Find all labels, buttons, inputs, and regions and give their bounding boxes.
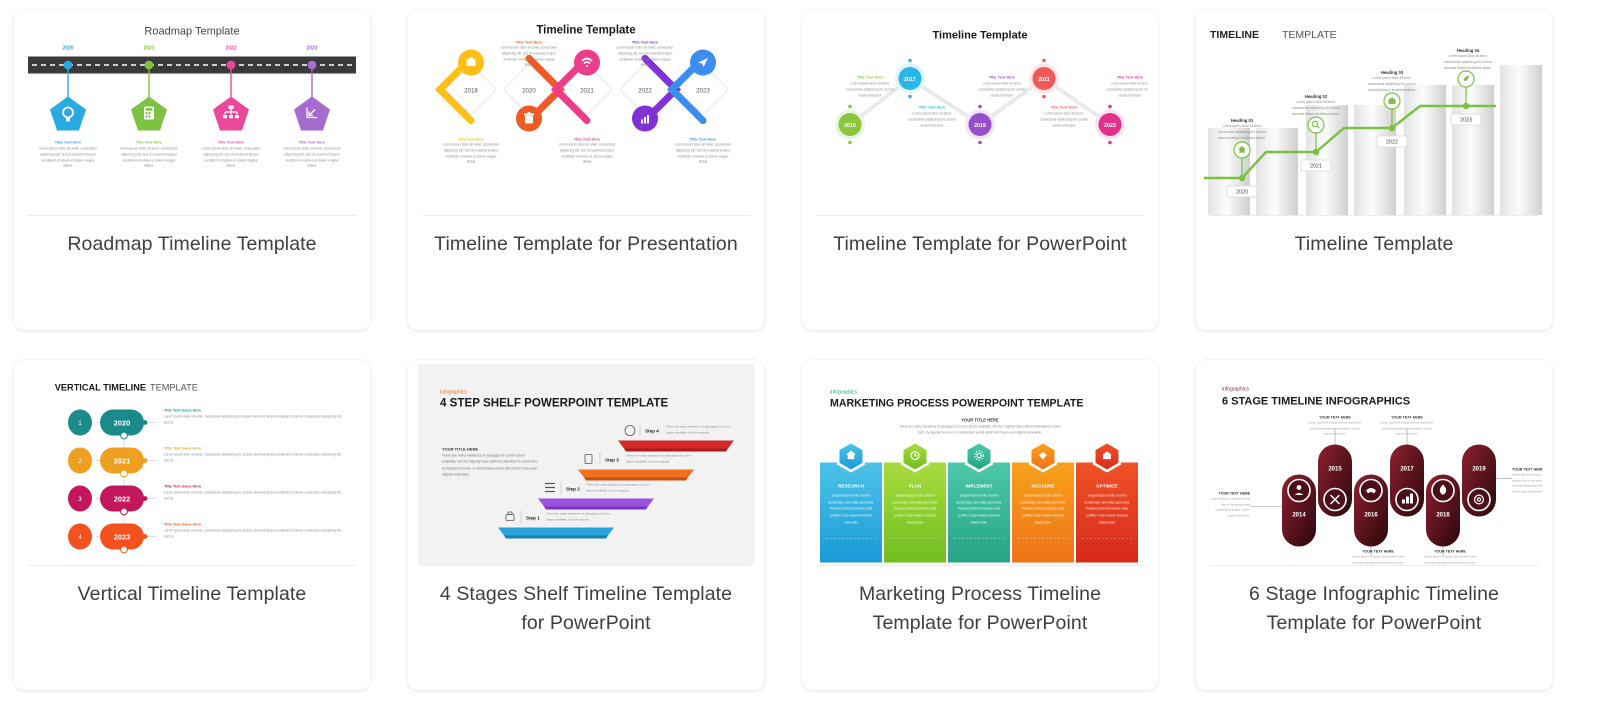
callout-2018: YOUR TEXT HERE Lorem Ipsum is simply dum… xyxy=(1421,547,1479,566)
callout-2015: YOUR TEXT HERE Lorem Ipsum is simply dum… xyxy=(1306,416,1364,445)
card-title-6-stage-infographic-timeline-template-for-powerpoint[interactable]: 6 Stage Infographic Timeline Template fo… xyxy=(1196,566,1552,638)
zigzag-title-2016: Title Text Here xyxy=(857,75,884,80)
roadmap-year-2023: 2023 xyxy=(306,46,317,52)
zigzag-illustration: Timeline Template 2016 2019 xyxy=(812,14,1148,215)
zigzag-node-2017: 2017 xyxy=(895,59,925,99)
roadmap-year-2022: 2022 xyxy=(225,46,236,52)
zigzag-year-2019: 2019 xyxy=(974,123,986,129)
stairs-body-03: Lorem ipsum dolor sit amet, consectetur … xyxy=(1364,76,1420,94)
thumbnail-zigzag[interactable]: Timeline Template 2016 2019 xyxy=(802,10,1158,215)
column-research: RESEARCH Suspendisse a felis a lorem sce… xyxy=(820,441,882,563)
chevron-node-2022 xyxy=(632,106,658,132)
shelf-side-body: There are many variations of passages of… xyxy=(442,453,540,479)
zigzag-node-2021: 2021 xyxy=(1029,59,1059,99)
callout-title-2017: YOUR TEXT HERE xyxy=(1391,416,1423,420)
vertical-row-4: 4 2023 Title Text Goes Here Lorem ipsum … xyxy=(68,522,344,553)
vertical-title-3: Title Text Goes Here xyxy=(164,484,202,489)
thumb-heading: Timeline Template xyxy=(536,25,635,37)
column-plan: PLAN Suspendisse a felis a lorem sceleri… xyxy=(884,441,946,563)
chevron-illustration: Timeline Template xyxy=(418,14,754,215)
thumb-heading: MARKETING PROCESS POWERPOINT TEMPLATE xyxy=(830,398,1083,410)
column-label-research: RESEARCH xyxy=(838,484,864,489)
roadmap-year-2021: 2021 xyxy=(143,46,154,52)
callout-body-2017: Lorem Ipsum is simply dummy text of the … xyxy=(1378,421,1436,438)
vertical-body-2: Lorem ipsum dolor sit amet, consectetur … xyxy=(164,452,344,464)
card-title-timeline-template[interactable]: Timeline Template xyxy=(1196,216,1552,259)
capsule-year-2016: 2016 xyxy=(1364,513,1378,519)
stairs-heading-02: Heading 02 xyxy=(1305,94,1328,99)
capsule-2018: 2018 xyxy=(1426,475,1460,547)
vertical-title-1: Title Text Goes Here xyxy=(164,408,202,413)
chevron-title-2021: Title Text Here xyxy=(574,137,601,142)
shelf-label-4: Step 4 xyxy=(645,429,659,434)
roadmap-year-2020: 2020 xyxy=(62,46,73,52)
thumb-heading-light: TEMPLATE xyxy=(150,383,198,393)
vertical-body-4: Lorem ipsum dolor sit amet, consectetur … xyxy=(164,528,344,540)
callout-title-2015: YOUR TEXT HERE xyxy=(1319,416,1351,420)
roadmap-dot xyxy=(308,61,317,70)
callout-body-2016: Lorem Ipsum is simply dummy text of the … xyxy=(1349,555,1407,566)
roadmap-item-body: lorem ipsum dolor sit amet, consectetur … xyxy=(119,147,179,170)
thumb-heading: 4 STEP SHELF POWERPOINT TEMPLATE xyxy=(440,397,669,410)
vertical-row-3: 3 2022 Title Text Goes Here Lorem ipsum … xyxy=(68,484,344,515)
stairs-heading-04: Heading 04 xyxy=(1457,48,1480,53)
zigzag-year-2023: 2023 xyxy=(1104,123,1116,129)
thumbnail-shelf[interactable]: infographics 4 STEP SHELF POWERPOINT TEM… xyxy=(408,360,764,565)
zigzag-body-2021: Lorem ipsum dolor sit amet, consectetur … xyxy=(1036,111,1092,129)
roadmap-illustration: Roadmap Template 2020 Titl xyxy=(24,14,360,215)
roadmap-dot xyxy=(227,61,236,70)
chevron-body-2018: Lorem ipsum dolor sit amet, consectetur … xyxy=(442,143,500,166)
callout-title-2016: YOUR TEXT HERE xyxy=(1362,550,1394,554)
callout-2014: YOUR TEXT HERE Lorem Ipsum is simply dum… xyxy=(1208,492,1282,519)
card-title-timeline-template-for-presentation[interactable]: Timeline Template for Presentation xyxy=(408,216,764,259)
thumb-heading-light: TEMPLATE xyxy=(1282,29,1337,41)
thumb-eyebrow: infographics xyxy=(1222,387,1249,393)
chevron-body-2021: Lorem ipsum dolor sit amet, consectetur … xyxy=(558,143,616,166)
thumbnail-chevron[interactable]: Timeline Template xyxy=(408,10,764,215)
roadmap-item-body: Lorem ipsum dolor sit amet, consectetur … xyxy=(38,147,98,170)
capsule-2019: 2019 xyxy=(1462,445,1496,517)
chevron-title-2023: Title Text Here xyxy=(690,137,717,142)
shelf-body-3: There are many variations of passages of… xyxy=(626,454,692,465)
shelf-label-2: Step 2 xyxy=(566,487,580,492)
capsule-2015: 2015 xyxy=(1318,445,1352,517)
zigzag-year-2017: 2017 xyxy=(904,77,916,83)
zigzag-title-2021: Title Text Here xyxy=(1051,105,1078,110)
capsule-2016: 2016 xyxy=(1354,475,1388,547)
stairs-body-02: Lorem ipsum dolor sit amet, consectetur … xyxy=(1288,100,1344,118)
callout-2016: YOUR TEXT HERE Lorem Ipsum is simply dum… xyxy=(1349,547,1407,566)
zigzag-title-2017: Title Text Here xyxy=(919,105,946,110)
template-card-vertical-timeline-template[interactable]: VERTICAL TIMELINE TEMPLATE 1 2020 Title … xyxy=(14,360,370,690)
zigzag-title-2019: Title Text Here xyxy=(989,75,1016,80)
chevron-year-2020: 2020 xyxy=(522,88,536,95)
capsule-year-2017: 2017 xyxy=(1400,467,1414,473)
template-card-6-stage-infographic-timeline-template-for-powerpoint[interactable]: infographics 6 STAGE TIMELINE INFOGRAPHI… xyxy=(1196,360,1552,690)
template-card-timeline-template[interactable]: TIMELINE TEMPLATE 2020 Heading 01 Lorem … xyxy=(1196,10,1552,330)
template-card-timeline-template-for-powerpoint[interactable]: Timeline Template 2016 2019 xyxy=(802,10,1158,330)
trash-icon xyxy=(524,112,534,123)
roadmap-item-title: Title Text Here xyxy=(136,140,163,145)
card-title-vertical-timeline-template[interactable]: Vertical Timeline Template xyxy=(14,566,370,609)
capsule-2014: 2014 xyxy=(1282,475,1316,547)
chevron-year-2021: 2021 xyxy=(580,88,594,95)
callout-title-2019: YOUR TEXT HERE xyxy=(1512,468,1542,472)
stairs-body-01: Lorem ipsum dolor sit amet, consectetur … xyxy=(1214,124,1270,142)
roadmap-item-title: Title Text Here xyxy=(299,140,326,145)
columns-sub-title: YOUR TITLE HERE xyxy=(961,418,999,423)
capsule-year-2019: 2019 xyxy=(1472,467,1486,473)
vertical-title-2: Title Text Goes Here xyxy=(164,446,202,451)
card-title-timeline-template-for-powerpoint[interactable]: Timeline Template for PowerPoint xyxy=(802,216,1158,259)
roadmap-item-title: Title Text Here xyxy=(218,140,245,145)
column-optimize: OPTIMIZE Suspendisse a felis a lorem sce… xyxy=(1076,441,1138,563)
card-title-4-stages-shelf-timeline-template-for-powerpoint[interactable]: 4 Stages Shelf Timeline Template for Pow… xyxy=(408,566,764,638)
template-card-roadmap-timeline-template[interactable]: Roadmap Template 2020 Titl xyxy=(14,10,370,330)
shelf-illustration: infographics 4 STEP SHELF POWERPOINT TEM… xyxy=(418,364,754,565)
zigzag-year-2021: 2021 xyxy=(1038,77,1050,83)
thumb-heading: Roadmap Template xyxy=(144,26,239,38)
shelf-side-title: YOUR TITLE HERE xyxy=(442,447,478,452)
thumb-heading-strong: TIMELINE xyxy=(1210,29,1259,41)
template-card-4-stages-shelf-timeline-template-for-powerpoint[interactable]: infographics 4 STEP SHELF POWERPOINT TEM… xyxy=(408,360,764,690)
calculator-icon xyxy=(144,107,154,120)
thumb-heading: Timeline Template xyxy=(933,30,1028,42)
roadmap-item-title: Title Text Here xyxy=(55,140,82,145)
chevron-node-2018 xyxy=(458,50,484,76)
shelf-label-1: Step 1 xyxy=(526,516,540,521)
template-card-grid: Roadmap Template 2020 Titl xyxy=(0,0,1600,690)
column-body-plan: Suspendisse a felis a lorem scelerisque … xyxy=(889,493,941,527)
chevron-body-2020: Lorem ipsum dolor sit amet, consectetur … xyxy=(500,46,558,69)
card-title-roadmap-timeline-template[interactable]: Roadmap Timeline Template xyxy=(14,216,370,259)
vertical-illustration: VERTICAL TIMELINE TEMPLATE 1 2020 Title … xyxy=(24,364,360,565)
columns-sub-body: There are many variations of passages of… xyxy=(896,424,1064,436)
roadmap-item-body: lorem ipsum dolor sit amet, consectetur … xyxy=(282,147,342,170)
thumb-heading: 6 STAGE TIMELINE INFOGRAPHICS xyxy=(1222,396,1410,408)
template-card-marketing-process-timeline-template-for-powerpoint[interactable]: infographics MARKETING PROCESS POWERPOIN… xyxy=(802,360,1158,690)
callout-title-2014: YOUR TEXT HERE xyxy=(1218,492,1250,496)
column-measure: MEASURE Suspendisse a felis a lorem scel… xyxy=(1012,441,1074,563)
zigzag-body-2017: Lorem ipsum dolor sit amet, consectetur … xyxy=(904,111,960,129)
callout-body-2018: Lorem Ipsum is simply dummy text of the … xyxy=(1421,555,1479,566)
thumbnail-roadmap[interactable]: Roadmap Template 2020 Titl xyxy=(14,10,370,215)
roadmap-dot xyxy=(145,61,154,70)
zigzag-body-2016: Lorem ipsum dolor sit amet, consectetur … xyxy=(842,81,898,99)
zigzag-body-2023: Lorem ipsum dolor sit amet, consectetur … xyxy=(1104,81,1148,99)
stairs-year-2020: 2020 xyxy=(1236,190,1248,196)
chevron-year-2018: 2018 xyxy=(464,88,478,95)
stairs-body-04: Lorem ipsum dolor sit amet, consectetur … xyxy=(1440,54,1496,72)
shelf-label-3: Step 3 xyxy=(605,458,619,463)
vertical-year-2021: 2021 xyxy=(114,457,130,466)
shelf-body-4: There are many variations of passages of… xyxy=(666,425,732,436)
column-label-measure: MEASURE xyxy=(1032,484,1055,489)
card-title-marketing-process-timeline-template-for-powerpoint[interactable]: Marketing Process Timeline Template for … xyxy=(802,566,1158,638)
thumbnail-capsules[interactable]: infographics 6 STAGE TIMELINE INFOGRAPHI… xyxy=(1196,360,1552,565)
callout-body-2014: Lorem Ipsum is simply dummy text of the … xyxy=(1208,497,1250,519)
shelf-body-1: There are many variations of passages of… xyxy=(546,512,612,523)
column-body-measure: Suspendisse a felis a lorem scelerisque … xyxy=(1017,493,1069,527)
thumbnail-stairs[interactable]: TIMELINE TEMPLATE 2020 Heading 01 Lorem … xyxy=(1196,10,1552,215)
chevron-year-2022: 2022 xyxy=(638,88,652,95)
vertical-year-2020: 2020 xyxy=(114,419,130,428)
template-card-timeline-template-for-presentation[interactable]: Timeline Template xyxy=(408,10,764,330)
chevron-year-2023: 2023 xyxy=(696,88,710,95)
callout-body-2015: Lorem Ipsum is simply dummy text of the … xyxy=(1306,421,1364,438)
shelf-body-2: There are many variations of passages of… xyxy=(586,483,652,494)
thumb-heading-strong: VERTICAL TIMELINE xyxy=(55,383,146,393)
stairs-year-2023: 2023 xyxy=(1460,118,1472,124)
thumbnail-vertical[interactable]: VERTICAL TIMELINE TEMPLATE 1 2020 Title … xyxy=(14,360,370,565)
vertical-year-2023: 2023 xyxy=(114,533,130,542)
chevron-node-2023 xyxy=(690,50,716,76)
thumbnail-columns[interactable]: infographics MARKETING PROCESS POWERPOIN… xyxy=(802,360,1158,565)
roadmap-item-body: Lorem ipsum dolor sit amet, consectetur … xyxy=(201,147,261,170)
column-label-optimize: OPTIMIZE xyxy=(1096,484,1118,489)
chevron-body-2023: Lorem ipsum dolor sit amet, consectetur … xyxy=(674,143,732,166)
capsule-year-2018: 2018 xyxy=(1436,513,1450,519)
callout-body-2019: Lorem Ipsum is simply dummy text of the … xyxy=(1512,473,1542,495)
column-label-implement: IMPLEMENT xyxy=(965,484,992,489)
stairs-illustration: TIMELINE TEMPLATE 2020 Heading 01 Lorem … xyxy=(1196,10,1552,215)
chevron-title-2022: Title Text Here xyxy=(632,40,659,45)
stairs-heading-01: Heading 01 xyxy=(1231,118,1254,123)
stairs-heading-03: Heading 03 xyxy=(1381,70,1404,75)
callout-title-2018: YOUR TEXT HERE xyxy=(1434,550,1466,554)
chevron-title-2018: Title Text Here xyxy=(458,137,485,142)
capsules-illustration: infographics 6 STAGE TIMELINE INFOGRAPHI… xyxy=(1206,364,1542,565)
chevron-body-2022: Lorem ipsum dolor sit amet, consectetur … xyxy=(616,46,674,69)
chevron-title-2020: Title Text Here xyxy=(516,40,543,45)
vertical-row-1: 1 2020 Title Text Goes Here Lorem ipsum … xyxy=(68,408,344,439)
column-body-research: Suspendisse a felis a lorem scelerisque … xyxy=(825,493,877,527)
vertical-body-1: Lorem ipsum dolor sit amet, consectetur … xyxy=(164,414,344,426)
zigzag-year-2016: 2016 xyxy=(844,123,856,129)
pentagon-badge xyxy=(50,97,86,131)
vertical-title-4: Title Text Goes Here xyxy=(164,522,202,527)
callout-2019: YOUR TEXT HERE Lorem Ipsum is simply dum… xyxy=(1496,468,1542,495)
column-body-optimize: Suspendisse a felis a lorem scelerisque … xyxy=(1081,493,1133,527)
column-body-implement: Suspendisse a felis a lorem scelerisque … xyxy=(953,493,1005,527)
capsule-year-2014: 2014 xyxy=(1292,513,1306,519)
roadmap-dot xyxy=(64,61,73,70)
thumb-eyebrow: infographics xyxy=(830,390,857,396)
capsule-year-2015: 2015 xyxy=(1328,467,1342,473)
capsule-2017: 2017 xyxy=(1390,445,1424,517)
pentagon-badge xyxy=(294,97,330,131)
column-label-plan: PLAN xyxy=(909,484,922,489)
stairs-year-2022: 2022 xyxy=(1386,140,1398,146)
zigzag-body-2019: Lorem ipsum dolor sit amet, consectetur … xyxy=(974,81,1030,99)
chevron-node-2021 xyxy=(574,50,600,76)
callout-2017: YOUR TEXT HERE Lorem Ipsum is simply dum… xyxy=(1378,416,1436,445)
column-implement: IMPLEMENT Suspendisse a felis a lorem sc… xyxy=(948,441,1010,563)
vertical-row-2: 2 2021 Title Text Goes Here Lorem ipsum … xyxy=(68,446,344,477)
zigzag-title-2023: Title Text Here xyxy=(1117,75,1144,80)
columns-illustration: infographics MARKETING PROCESS POWERPOIN… xyxy=(812,364,1148,565)
stairs-year-2021: 2021 xyxy=(1310,164,1322,170)
vertical-year-2022: 2022 xyxy=(114,495,130,504)
chevron-node-2020 xyxy=(516,106,542,132)
vertical-body-3: Lorem ipsum dolor sit amet, consectetur … xyxy=(164,490,344,502)
thumb-eyebrow: infographics xyxy=(440,390,467,396)
